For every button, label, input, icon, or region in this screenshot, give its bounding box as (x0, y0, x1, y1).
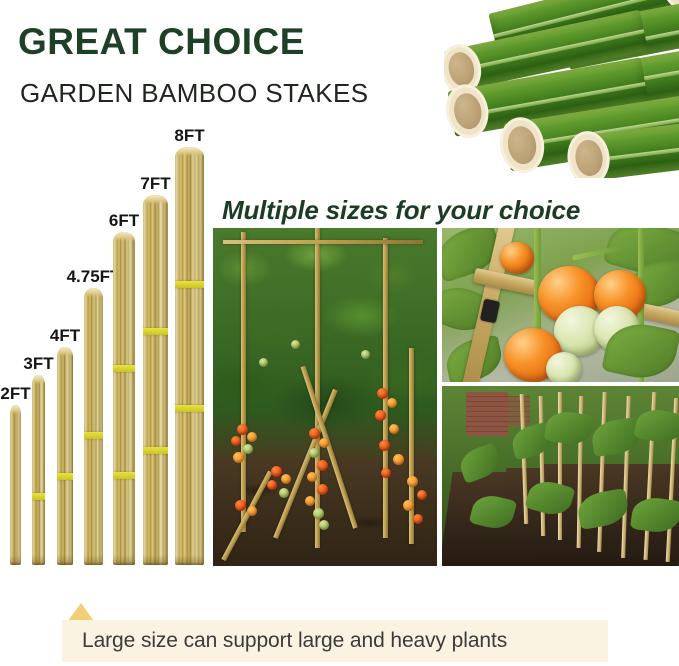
page-title: GREAT CHOICE (18, 23, 305, 60)
tomato-fruit (271, 466, 282, 477)
tomato-fruit (389, 424, 399, 434)
gallery-headline: Multiple sizes for your choice (222, 197, 580, 223)
tomato-fruit (309, 428, 320, 439)
tomato-fruit (317, 460, 328, 471)
brick-wall (466, 392, 508, 436)
stake-bundle[interactable]: 4.75FT (84, 288, 103, 565)
bamboo-canes (57, 347, 73, 565)
stake-bundle[interactable]: 6FT (113, 232, 135, 565)
tomato-fruit (259, 358, 268, 367)
tomato-fruit (317, 484, 328, 495)
tomato-fruit (281, 474, 291, 484)
tomato-fruit (381, 468, 391, 478)
size-comparison-chart: 2FT 3FT 4FT 4.75FT 6FT 7FT (0, 110, 212, 580)
tomato-fruit (319, 438, 329, 448)
tomato-fruit (291, 340, 300, 349)
tomato-fruit (393, 454, 404, 465)
tomato-fruit (279, 488, 289, 498)
tomato-fruit (387, 398, 397, 408)
stake-size-label: 8FT (174, 127, 204, 144)
tomato-garden-photo (213, 228, 437, 566)
garden-cane (315, 228, 320, 548)
stake-bundle[interactable]: 4FT (57, 347, 73, 565)
tomato-fruit (233, 452, 244, 463)
tomato-fruit (413, 514, 423, 524)
tomato-fruit (247, 432, 257, 442)
stake-bundle[interactable]: 8FT (175, 147, 204, 565)
footer-banner: Large size can support large and heavy p… (62, 620, 608, 662)
garden-cane (241, 232, 246, 532)
footer-banner-text: Large size can support large and heavy p… (82, 629, 507, 653)
tomato-fruit (309, 448, 319, 458)
staked-rows-photo (442, 386, 679, 566)
tomato-fruit (231, 436, 241, 446)
tomato-fruit (313, 508, 324, 519)
stake-size-label: 6FT (109, 212, 139, 229)
bamboo-poles-photo (444, 0, 679, 178)
tomato-fruit (319, 520, 329, 530)
tomato-fruit (377, 388, 388, 399)
bamboo-canes (143, 195, 168, 565)
bamboo-canes (175, 147, 204, 565)
tomato-fruit (407, 476, 418, 487)
stake-size-label: 4FT (50, 327, 80, 344)
tomato-fruit (237, 424, 248, 435)
stake-size-label: 2FT (0, 385, 30, 402)
garden-cane (223, 240, 423, 244)
stake-size-label: 3FT (23, 355, 53, 372)
tomato-fruit (307, 472, 317, 482)
garden-cane (409, 348, 414, 544)
tomato-fruit (379, 440, 390, 451)
tomato-fruit (247, 506, 257, 516)
bamboo-canes (113, 232, 135, 565)
tomato-fruit (267, 480, 277, 490)
bamboo-canes (10, 405, 21, 565)
stake-bundle[interactable]: 3FT (32, 375, 45, 565)
tomato-fruit (361, 350, 370, 359)
stake-bundle[interactable]: 7FT (143, 195, 168, 565)
tomato-fruit (243, 444, 253, 454)
page-subtitle: GARDEN BAMBOO STAKES (20, 80, 368, 106)
tomato-closeup-photo (442, 228, 679, 382)
bamboo-canes (32, 375, 45, 565)
bamboo-canes (84, 288, 103, 565)
tomato-fruit (500, 242, 534, 274)
banner-arrow-icon (68, 603, 94, 621)
tomato-fruit (305, 496, 315, 506)
stake-size-label: 7FT (140, 175, 170, 192)
tomato-fruit (375, 410, 386, 421)
tomato-fruit (546, 352, 582, 382)
tomato-fruit (417, 490, 427, 500)
tomato-fruit (403, 500, 414, 511)
tomato-fruit (235, 500, 246, 511)
brick-wall (504, 396, 530, 426)
stake-bundle[interactable]: 2FT (10, 405, 21, 565)
